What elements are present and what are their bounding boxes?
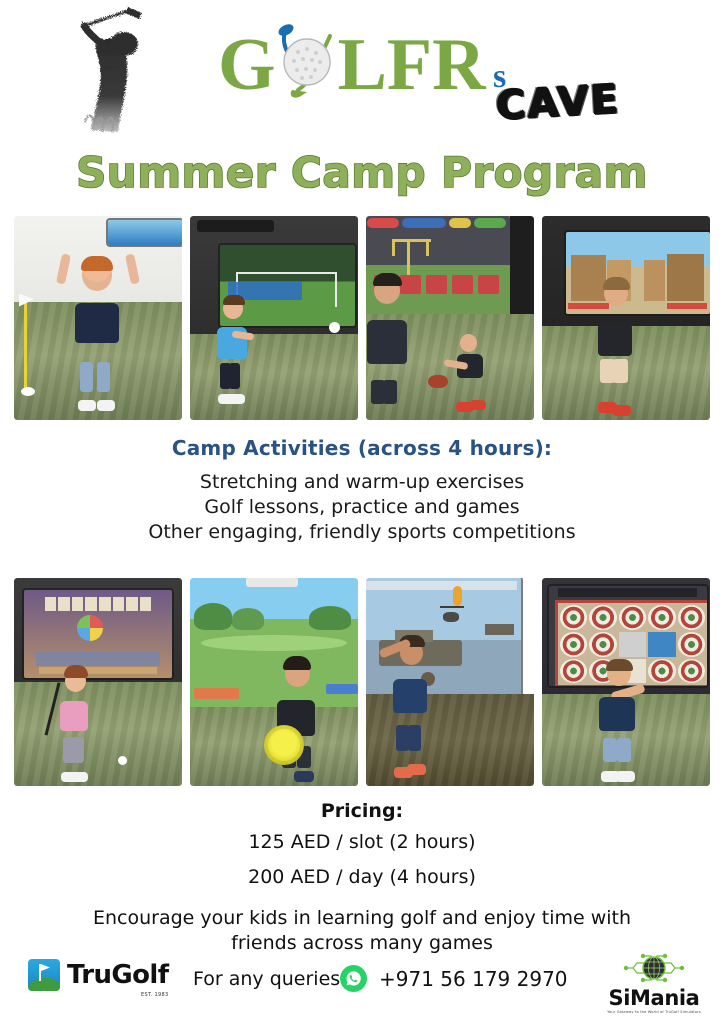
pricing-heading: Pricing: <box>0 800 724 822</box>
header: G <box>0 0 724 145</box>
brand-word-cave: CAVE <box>495 77 621 130</box>
pricing-line: 125 AED / slot (2 hours) <box>0 828 724 857</box>
camp-activities-section: Camp Activities (across 4 hours): Stretc… <box>0 436 724 545</box>
golf-ball-icon <box>276 28 338 102</box>
photo-football-simulator <box>366 216 534 420</box>
pricing-line: 200 AED / day (4 hours) <box>0 863 724 892</box>
flyer-page: G <box>0 0 724 1024</box>
photo-golf-course-frisbee <box>190 578 358 786</box>
queries-label: For any queries <box>193 968 340 990</box>
activity-item: Stretching and warm-up exercises <box>0 470 724 495</box>
brand-letter-g: G <box>218 28 276 102</box>
simania-logo: SiMania Your Gateway to the World of Tru… <box>592 950 716 1014</box>
trugolf-flag-icon <box>28 959 60 991</box>
golfer-swing-silhouette-icon <box>58 4 156 138</box>
photo-gallery-row-1 <box>0 216 724 420</box>
photo-gallery-row-2 <box>0 578 724 786</box>
activities-heading: Camp Activities (across 4 hours): <box>0 436 724 460</box>
whatsapp-icon[interactable] <box>340 965 367 992</box>
pricing-section: Pricing: 125 AED / slot (2 hours) 200 AE… <box>0 800 724 892</box>
footer: TruGolf EST. 1983 For any queries +971 5… <box>0 955 724 1017</box>
simania-wordmark: SiMania <box>592 987 716 1009</box>
activity-item: Golf lessons, practice and games <box>0 495 724 520</box>
photo-target-practice <box>542 578 710 786</box>
photo-naval-simulator <box>366 578 534 786</box>
trugolf-logo: TruGolf EST. 1983 <box>28 959 168 991</box>
simania-tagline: Your Gateway to the World of TruGolf Sim… <box>592 1010 716 1014</box>
photo-celebrating-child <box>14 216 182 420</box>
activity-item: Other engaging, friendly sports competit… <box>0 520 724 545</box>
encouragement-text: Encourage your kids in learning golf and… <box>0 906 724 956</box>
trugolf-established: EST. 1983 <box>141 992 168 998</box>
photo-carnival-simulator <box>14 578 182 786</box>
trugolf-name-text: TruGolf <box>67 960 168 990</box>
phone-number[interactable]: +971 56 179 2970 <box>379 967 568 991</box>
encouragement-line-1: Encourage your kids in learning golf and… <box>0 906 724 931</box>
photo-soccer-simulator <box>190 216 358 420</box>
photo-western-simulator <box>542 216 710 420</box>
brand-logo: G <box>218 28 698 128</box>
trugolf-wordmark: TruGolf EST. 1983 <box>67 960 168 990</box>
page-title: Summer Camp Program <box>0 148 724 197</box>
simania-circuit-globe-icon <box>623 950 685 986</box>
activities-list: Stretching and warm-up exercises Golf le… <box>0 470 724 545</box>
